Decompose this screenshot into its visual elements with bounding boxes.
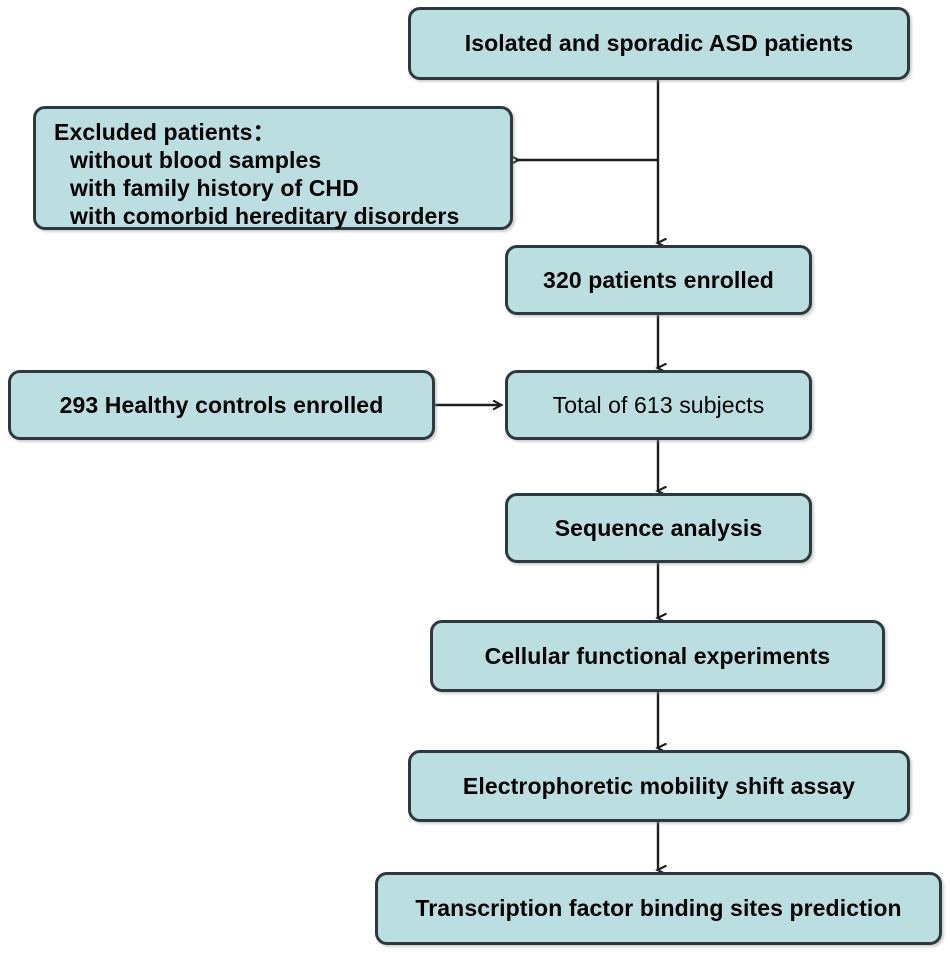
node-healthy-controls-label: 293 Healthy controls enrolled xyxy=(60,393,384,417)
node-sequence-analysis[interactable]: Sequence analysis xyxy=(505,493,812,563)
node-excluded-patients-item-1: without blood samples xyxy=(54,146,500,174)
node-total-subjects-label: Total of 613 subjects xyxy=(553,393,765,417)
node-cellular-experiments[interactable]: Cellular functional experiments xyxy=(430,620,885,692)
node-total-subjects[interactable]: Total of 613 subjects xyxy=(505,370,812,440)
node-tfbs-prediction[interactable]: Transcription factor binding sites predi… xyxy=(375,872,942,945)
node-emsa[interactable]: Electrophoretic mobility shift assay xyxy=(408,750,910,822)
node-patients-enrolled-label: 320 patients enrolled xyxy=(543,268,774,292)
node-cellular-experiments-label: Cellular functional experiments xyxy=(485,644,831,668)
node-excluded-patients-item-2: with family history of CHD xyxy=(54,174,500,202)
node-tfbs-prediction-label: Transcription factor binding sites predi… xyxy=(415,896,901,920)
node-excluded-patients-item-3: with comorbid hereditary disorders xyxy=(54,202,500,230)
node-emsa-label: Electrophoretic mobility shift assay xyxy=(463,774,855,798)
node-asd-patients[interactable]: Isolated and sporadic ASD patients xyxy=(408,7,910,80)
node-excluded-patients[interactable]: Excluded patients： without blood samples… xyxy=(33,106,513,230)
node-excluded-patients-heading: Excluded patients： xyxy=(54,118,500,146)
node-healthy-controls[interactable]: 293 Healthy controls enrolled xyxy=(8,370,435,440)
node-asd-patients-label: Isolated and sporadic ASD patients xyxy=(465,31,854,55)
node-sequence-analysis-label: Sequence analysis xyxy=(555,516,763,540)
node-patients-enrolled[interactable]: 320 patients enrolled xyxy=(505,245,812,315)
flowchart-canvas: Isolated and sporadic ASD patients Exclu… xyxy=(0,0,950,955)
